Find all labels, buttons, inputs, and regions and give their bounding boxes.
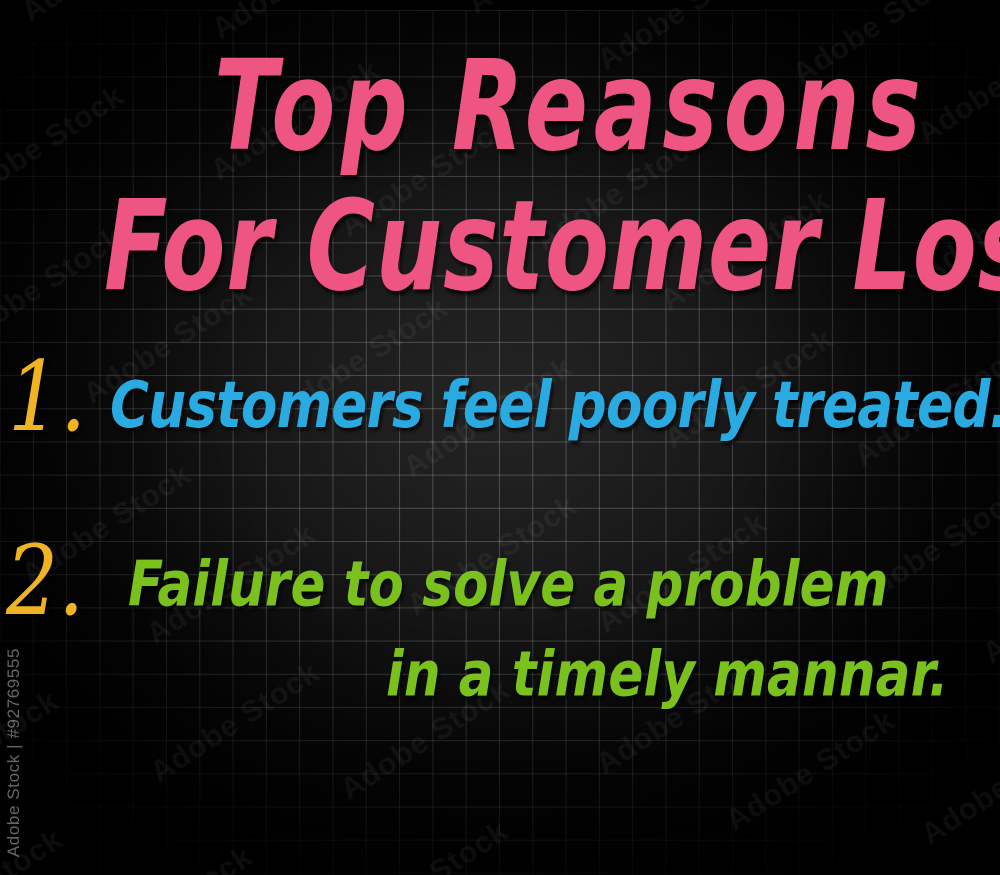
list-item-number: 2. — [6, 534, 84, 631]
top-edge-border — [0, 0, 1000, 10]
list-item: 1. Customers feel poorly treated. — [0, 334, 1000, 464]
page-title-line-1: Top Reasons — [214, 44, 927, 169]
list-item-text: Failure to solve a problem — [128, 554, 889, 616]
list-item-text-continued: in a timely mannar. — [386, 644, 949, 706]
list-item: 2. Failure to solve a problem in a timel… — [0, 520, 1000, 720]
poster-canvas: Adobe StockAdobe StockAdobe StockAdobe S… — [0, 0, 1000, 875]
page-title-line-2: For Customer Loss: — [104, 184, 1000, 309]
list-item-number: 1. — [8, 350, 86, 447]
list-item-text: Customers feel poorly treated. — [110, 374, 1000, 438]
